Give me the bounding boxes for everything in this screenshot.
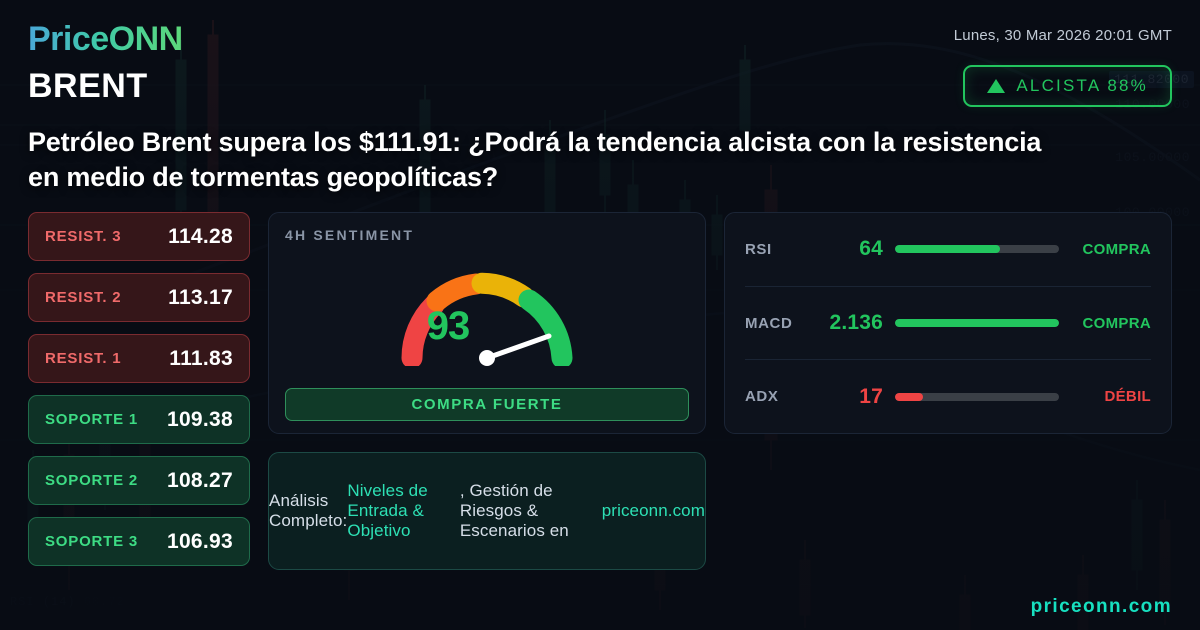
cta-site-link[interactable]: priceonn.com xyxy=(602,501,705,521)
headline: Petróleo Brent supera los $111.91: ¿Podr… xyxy=(28,125,1058,194)
header-top-row: PriceONN Lunes, 30 Mar 2026 20:01 GMT xyxy=(28,0,1172,59)
gauge-hub xyxy=(479,350,495,366)
level-label: SOPORTE 3 xyxy=(45,533,138,550)
indicator-value: 64 xyxy=(821,237,895,261)
list-item: RESIST. 2 113.17 xyxy=(28,273,250,322)
center-column: 4H SENTIMENT 9 xyxy=(268,212,706,570)
level-value: 114.28 xyxy=(168,225,233,249)
indicator-value: 2.136 xyxy=(821,311,895,335)
indicators-column: RSI 64 COMPRA MACD 2.136 COMPRA xyxy=(724,212,1172,570)
list-item: SOPORTE 3 106.93 xyxy=(28,517,250,566)
list-item: RESIST. 1 111.83 xyxy=(28,334,250,383)
list-item: SOPORTE 1 109.38 xyxy=(28,395,250,444)
gauge-needle xyxy=(487,336,549,358)
level-value: 108.27 xyxy=(167,469,233,493)
indicators-panel: RSI 64 COMPRA MACD 2.136 COMPRA xyxy=(724,212,1172,434)
table-row: ADX 17 DÉBIL xyxy=(745,360,1151,433)
level-value: 106.93 xyxy=(167,530,233,554)
gauge-value: 93 xyxy=(403,304,493,349)
list-item: SOPORTE 2 108.27 xyxy=(28,456,250,505)
status-badge: ALCISTA 88% xyxy=(963,65,1172,107)
list-item: RESIST. 3 114.28 xyxy=(28,212,250,261)
timestamp: Lunes, 30 Mar 2026 20:01 GMT xyxy=(954,20,1172,44)
cta-link-entry-levels[interactable]: Niveles de Entrada & Objetivo xyxy=(347,481,459,541)
level-value: 109.38 xyxy=(167,408,233,432)
indicator-bar-fill xyxy=(895,245,1000,253)
header-second-row: BRENT ALCISTA 88% xyxy=(28,65,1172,107)
brand-logo: PriceONN xyxy=(28,20,183,59)
indicator-bar-track xyxy=(895,319,1059,327)
level-label: SOPORTE 2 xyxy=(45,472,138,489)
verdict-badge: COMPRA FUERTE xyxy=(285,388,689,421)
page-title: BRENT xyxy=(28,67,148,106)
indicator-bar-fill xyxy=(895,319,1059,327)
level-label: RESIST. 2 xyxy=(45,289,121,306)
cta-middle: , Gestión de Riesgos & Escenarios en xyxy=(460,481,602,541)
indicator-bar-track xyxy=(895,245,1059,253)
indicator-bar-fill xyxy=(895,393,923,401)
main-content: RESIST. 3 114.28 RESIST. 2 113.17 RESIST… xyxy=(28,212,1172,570)
footer-site-link[interactable]: priceonn.com xyxy=(1031,596,1172,618)
level-label: RESIST. 3 xyxy=(45,228,121,245)
level-value: 111.83 xyxy=(169,347,233,371)
level-value: 113.17 xyxy=(168,286,233,310)
indicator-value: 17 xyxy=(821,385,895,409)
indicator-signal: COMPRA xyxy=(1059,241,1151,258)
indicator-signal: COMPRA xyxy=(1059,315,1151,332)
indicator-bar-track xyxy=(895,393,1059,401)
indicator-signal: DÉBIL xyxy=(1059,388,1151,405)
table-row: RSI 64 COMPRA xyxy=(745,213,1151,287)
sentiment-panel: 4H SENTIMENT 9 xyxy=(268,212,706,434)
levels-list: RESIST. 3 114.28 RESIST. 2 113.17 RESIST… xyxy=(28,212,250,570)
status-badge-label: ALCISTA 88% xyxy=(1016,76,1148,96)
verdict-label: COMPRA FUERTE xyxy=(411,396,562,413)
cta-prefix: Análisis Completo: xyxy=(269,491,347,531)
level-label: SOPORTE 1 xyxy=(45,411,138,428)
level-label: RESIST. 1 xyxy=(45,350,121,367)
gauge-wrap: 93 xyxy=(285,243,689,388)
sentiment-title: 4H SENTIMENT xyxy=(285,227,689,243)
indicator-name: ADX xyxy=(745,388,821,405)
sentiment-gauge: 93 xyxy=(397,266,577,366)
cta-banner[interactable]: Análisis Completo: Niveles de Entrada & … xyxy=(268,452,706,570)
indicator-name: RSI xyxy=(745,241,821,258)
table-row: MACD 2.136 COMPRA xyxy=(745,287,1151,361)
triangle-up-icon xyxy=(987,79,1005,93)
indicator-name: MACD xyxy=(745,315,821,332)
